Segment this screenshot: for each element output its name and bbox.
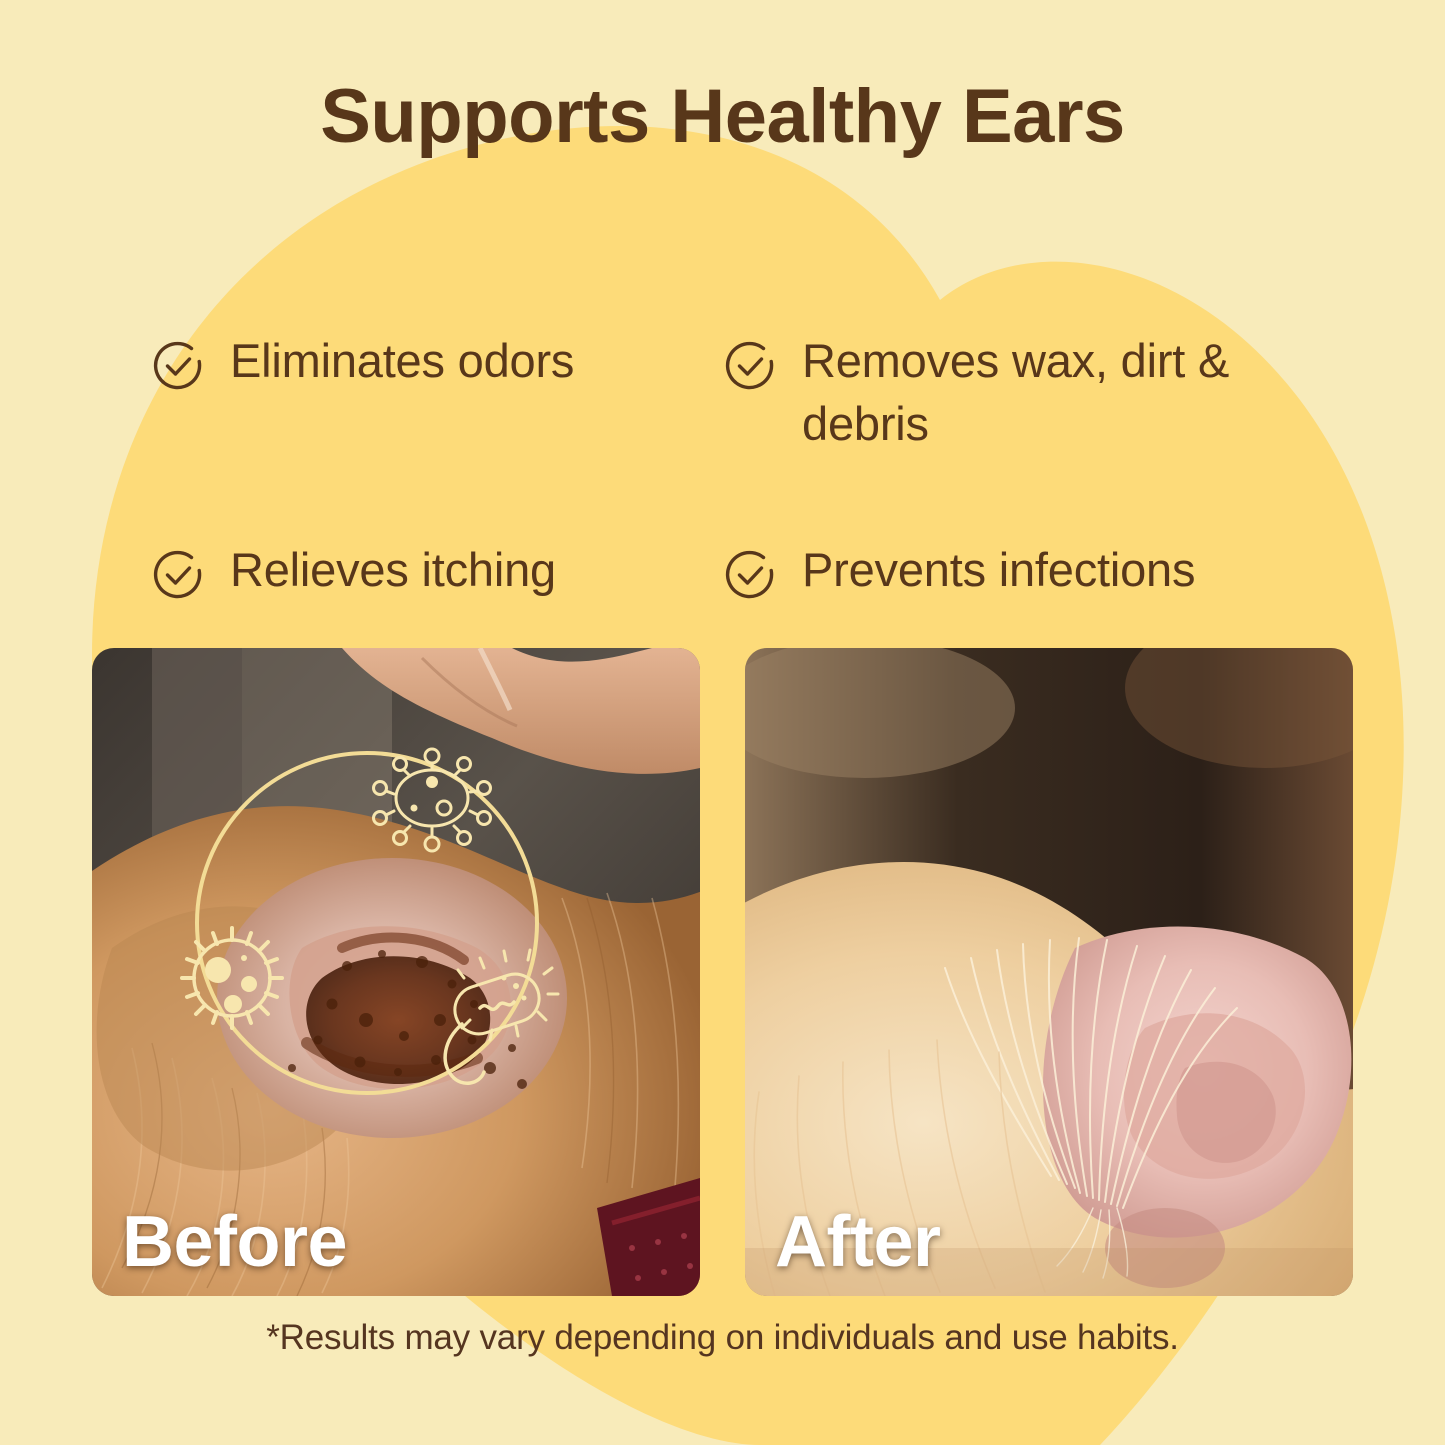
benefit-item-removes-wax-dirt-debris: Removes wax, dirt & debris <box>720 330 1308 455</box>
after-photo <box>745 648 1353 1296</box>
before-photo <box>92 648 700 1296</box>
benefit-label: Eliminates odors <box>230 330 574 393</box>
benefit-label: Prevents infections <box>802 539 1195 602</box>
page-title: Supports Healthy Ears <box>0 76 1445 158</box>
before-label: Before <box>122 1206 347 1278</box>
after-label: After <box>775 1206 941 1278</box>
before-after-comparison: Before <box>92 648 1354 1296</box>
benefit-item-relieves-itching: Relieves itching <box>148 539 720 605</box>
after-photo-card: After <box>745 648 1353 1296</box>
before-photo-card: Before <box>92 648 700 1296</box>
benefit-label: Removes wax, dirt & debris <box>802 330 1308 455</box>
benefit-item-eliminates-odors: Eliminates odors <box>148 330 720 455</box>
check-circle-icon <box>720 545 780 605</box>
check-circle-icon <box>148 545 208 605</box>
check-circle-icon <box>720 336 780 396</box>
benefit-item-prevents-infections: Prevents infections <box>720 539 1308 605</box>
benefits-list: Eliminates odors Removes wax, dirt & deb… <box>148 330 1308 605</box>
benefit-label: Relieves itching <box>230 539 556 602</box>
check-circle-icon <box>148 336 208 396</box>
disclaimer-footnote: *Results may vary depending on individua… <box>0 1318 1445 1358</box>
product-benefit-poster: Supports Healthy Ears Eliminates odors R… <box>0 0 1445 1445</box>
